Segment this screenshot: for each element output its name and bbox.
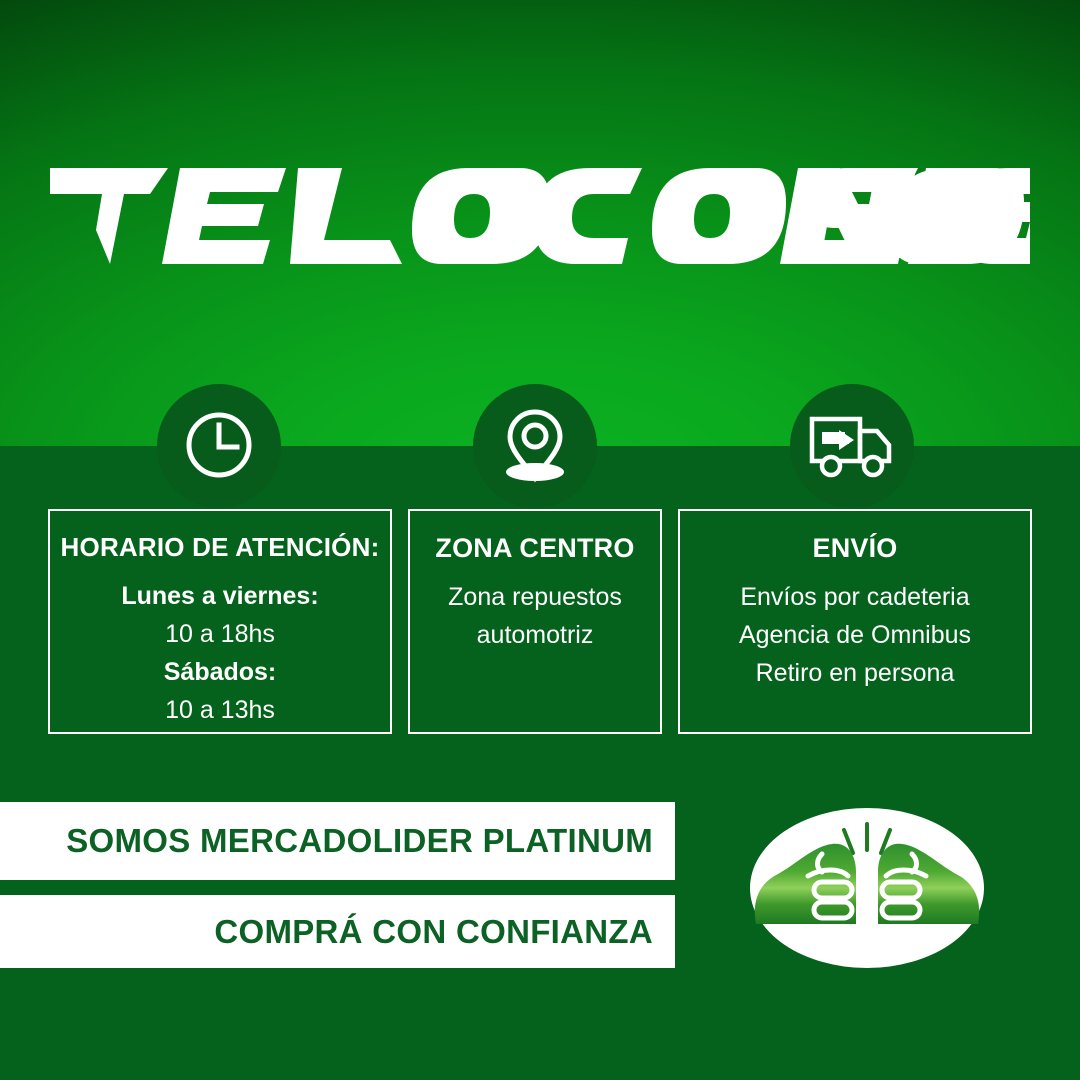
banner-text: COMPRÁ CON CONFIANZA	[214, 913, 653, 951]
card-line: automotriz	[420, 616, 650, 654]
card-title: ZONA CENTRO	[420, 533, 650, 564]
card-line: 10 a 13hs	[60, 691, 380, 729]
delivery-truck-icon	[790, 390, 914, 500]
card-envio: ENVÍO Envíos por cadeteria Agencia de Om…	[678, 509, 1032, 734]
card-line: Envíos por cadeteria	[690, 578, 1020, 616]
brand-logo	[0, 168, 1080, 264]
card-line: Lunes a viernes:	[60, 577, 380, 615]
card-title: HORARIO DE ATENCIÓN:	[60, 533, 380, 563]
fist-bump-emblem	[748, 806, 986, 971]
banner-confianza: COMPRÁ CON CONFIANZA	[0, 895, 675, 968]
banner-mercadolider: SOMOS MERCADOLIDER PLATINUM	[0, 802, 675, 880]
card-line: Agencia de Omnibus	[690, 616, 1020, 654]
banner-text: SOMOS MERCADOLIDER PLATINUM	[66, 822, 653, 860]
card-title: ENVÍO	[690, 533, 1020, 564]
card-line: Zona repuestos	[420, 578, 650, 616]
poster-root: HORARIO DE ATENCIÓN: Lunes a viernes: 10…	[0, 0, 1080, 1080]
clock-icon	[157, 390, 281, 500]
info-card-group: HORARIO DE ATENCIÓN: Lunes a viernes: 10…	[48, 509, 1032, 734]
card-zona: ZONA CENTRO Zona repuestos automotriz	[408, 509, 662, 734]
location-pin-icon	[473, 390, 597, 500]
card-line: 10 a 18hs	[60, 615, 380, 653]
card-horario: HORARIO DE ATENCIÓN: Lunes a viernes: 10…	[48, 509, 392, 734]
card-line: Sábados:	[60, 653, 380, 691]
card-line: Retiro en persona	[690, 654, 1020, 692]
